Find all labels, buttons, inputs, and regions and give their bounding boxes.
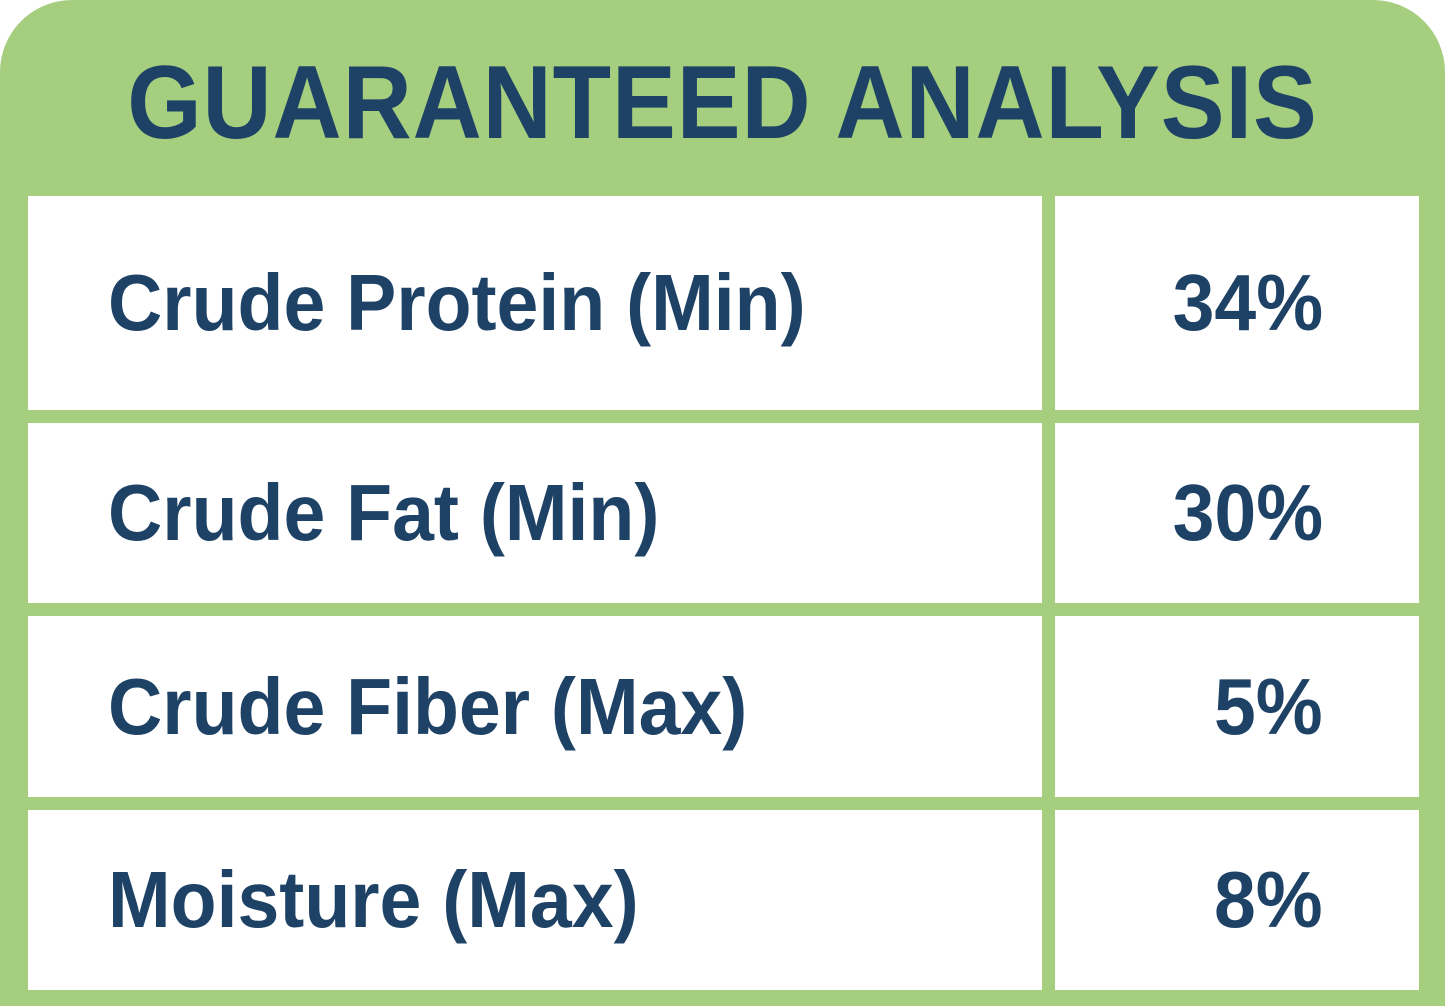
nutrient-label: Crude Protein (Min) (108, 263, 806, 343)
nutrient-label: Crude Fat (Min) (108, 473, 659, 553)
guaranteed-analysis-panel: GUARANTEED ANALYSIS Crude Protein (Min) … (0, 0, 1445, 1006)
nutrient-value-cell: 30% (1055, 423, 1419, 603)
nutrient-label: Moisture (Max) (108, 860, 639, 940)
nutrient-value-cell: 8% (1055, 810, 1419, 990)
table-row: Crude Fat (Min) 30% (28, 423, 1419, 603)
nutrient-value: 5% (1214, 667, 1323, 747)
table-row: Crude Fiber (Max) 5% (28, 616, 1419, 796)
nutrient-label-cell: Crude Fiber (Max) (28, 616, 1042, 796)
nutrient-value-cell: 5% (1055, 616, 1419, 796)
nutrient-value: 30% (1172, 473, 1323, 553)
table-row: Crude Protein (Min) 34% (28, 196, 1419, 410)
nutrient-value: 8% (1214, 860, 1323, 940)
page-title: GUARANTEED ANALYSIS (58, 44, 1387, 162)
table-row: Moisture (Max) 8% (28, 810, 1419, 990)
nutrient-value-cell: 34% (1055, 196, 1419, 410)
guaranteed-analysis-table: Crude Protein (Min) 34% Crude Fat (Min) … (28, 196, 1419, 990)
nutrient-value: 34% (1172, 263, 1323, 343)
nutrient-label-cell: Crude Protein (Min) (28, 196, 1042, 410)
nutrient-label-cell: Crude Fat (Min) (28, 423, 1042, 603)
nutrient-label-cell: Moisture (Max) (28, 810, 1042, 990)
nutrient-label: Crude Fiber (Max) (108, 667, 747, 747)
